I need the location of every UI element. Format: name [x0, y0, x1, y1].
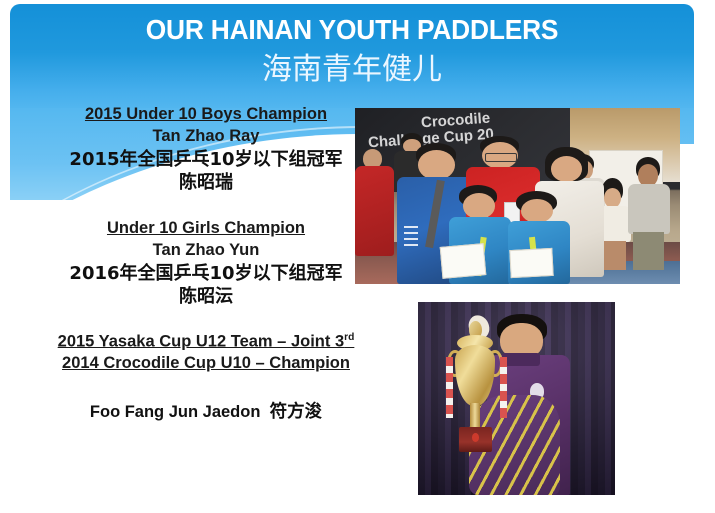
boy-paddler: [449, 185, 511, 284]
trophy-cup: [455, 345, 495, 405]
spacer: [6, 194, 406, 218]
head-shape: [463, 193, 495, 219]
bystander-right: [628, 157, 670, 270]
girl-paddler: [508, 191, 570, 284]
athlete-name-english: Foo Fang Jun Jaedon: [90, 403, 261, 421]
ordinal-suffix: rd: [344, 332, 354, 343]
head-shape: [418, 150, 455, 180]
head-shape: [551, 156, 582, 182]
trophy-ribbon-right: [500, 357, 507, 417]
head-shape: [604, 188, 621, 208]
athlete-name-english: Tan Zhao Yun: [6, 240, 406, 262]
jersey-collar: [502, 353, 540, 366]
athlete-name-chinese: 陈昭瑞: [6, 171, 406, 194]
achievement-heading-yasaka-text: 2015 Yasaka Cup U12 Team – Joint 3: [58, 332, 344, 350]
achievement-detail-chinese: 2015年全国乒乓10岁以下组冠军: [6, 148, 406, 171]
torso-shape: [628, 184, 670, 234]
legs-shape: [633, 232, 664, 270]
achievement-block-jaedon: 2015 Yasaka Cup U12 Team – Joint 3rd 201…: [6, 331, 406, 424]
spacer: [6, 309, 406, 331]
achievement-heading-yasaka: 2015 Yasaka Cup U12 Team – Joint 3rd: [6, 331, 406, 353]
athlete-name-english: Tan Zhao Ray: [6, 126, 406, 148]
achievement-detail-chinese: 2016年全国乒乓10岁以下组冠军: [6, 262, 406, 285]
bystander-red: [355, 147, 394, 256]
torso-shape: [355, 166, 394, 255]
photo-crocodile-cup-group: Crocodile Challenge Cup 20: [355, 108, 680, 284]
trophy-ribbon-left: [446, 357, 453, 417]
certificate: [439, 243, 486, 278]
page-subtitle-chinese: 海南青年健儿: [10, 52, 694, 88]
title-banner: OUR HAINAN YOUTH PADDLERS 海南青年健儿: [10, 4, 694, 112]
photo-trophy-winner: [418, 302, 615, 495]
championship-trophy: [446, 321, 505, 472]
spacer: [6, 375, 406, 401]
achievement-block-boys: 2015 Under 10 Boys Champion Tan Zhao Ray…: [6, 104, 406, 194]
glasses-icon: [485, 153, 517, 161]
achievement-heading-crocodile: 2014 Crocodile Cup U10 – Champion: [6, 353, 406, 375]
athlete-name-chinese: 符方浚: [270, 402, 323, 422]
shirt-stripes: [404, 226, 418, 250]
page-title: OUR HAINAN YOUTH PADDLERS: [31, 15, 674, 44]
head-shape: [521, 199, 553, 223]
certificate: [510, 247, 554, 277]
athlete-name-jaedon: Foo Fang Jun Jaedon 符方浚: [6, 401, 406, 424]
athlete-name-chinese: 陈昭沄: [6, 285, 406, 308]
trophy-stem: [470, 403, 479, 429]
trophy-base-emblem: [472, 433, 480, 442]
head-shape: [638, 164, 658, 187]
achievements-text-column: 2015 Under 10 Boys Champion Tan Zhao Ray…: [6, 104, 406, 424]
achievement-heading: 2015 Under 10 Boys Champion: [6, 104, 406, 126]
achievement-block-girls: Under 10 Girls Champion Tan Zhao Yun 201…: [6, 218, 406, 308]
slide-canvas: OUR HAINAN YOUTH PADDLERS 海南青年健儿 2015 Un…: [0, 0, 715, 513]
achievement-heading: Under 10 Girls Champion: [6, 218, 406, 240]
